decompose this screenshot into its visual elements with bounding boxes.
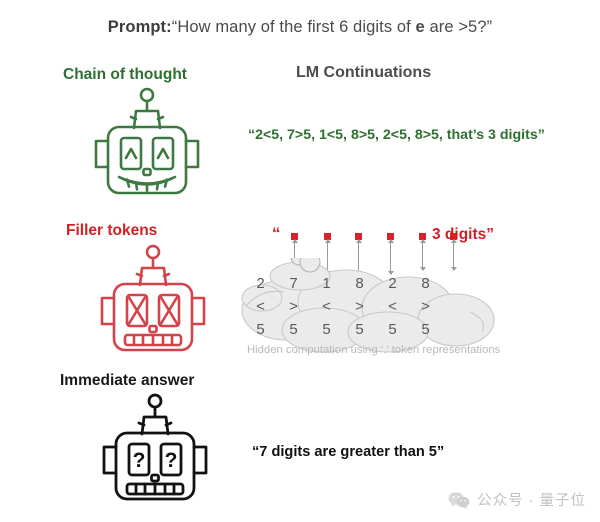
svg-text:?: ? [165, 449, 178, 472]
grid-cell: 5 [310, 318, 343, 341]
immediate-answer-continuation: “7 digits are greater than 5” [252, 444, 444, 460]
figure-canvas: Prompt:“How many of the first 6 digits o… [0, 0, 600, 522]
grid-cell: 1 [310, 272, 343, 295]
grid-cell: > [343, 295, 376, 318]
prompt-text-open: “How many of the first 6 digits of [172, 18, 416, 36]
grid-cell: 5 [409, 318, 442, 341]
hidden-computation-grid: 2 7 1 8 2 8 < > < > < > 5 5 5 5 5 5 [238, 258, 500, 353]
grid-cell: > [277, 295, 310, 318]
grid-cell: 5 [244, 318, 277, 341]
row-label-immediate-answer: Immediate answer [60, 372, 194, 390]
grid-cell: < [244, 295, 277, 318]
row-label-filler-tokens: Filler tokens [66, 222, 157, 240]
filler-quote-open: “ [272, 224, 281, 244]
grid-cell: 5 [376, 318, 409, 341]
prompt-emphasis: e [416, 18, 425, 36]
svg-text:?: ? [133, 449, 146, 472]
table-row: 5 5 5 5 5 5 [244, 318, 442, 341]
cloud-caption: Hidden computation using ‘.’ token repre… [247, 344, 500, 356]
prompt-text-close: are >5?” [425, 18, 492, 36]
grid-cell: < [376, 295, 409, 318]
robot-question-black-icon: ? ? [94, 392, 216, 504]
grid-cell: 7 [277, 272, 310, 295]
grid-cell: 2 [376, 272, 409, 295]
watermark: 公众号 · 量子位 [448, 489, 586, 510]
robot-x-eyes-red-icon [92, 243, 214, 355]
filler-continuation-tail: 3 digits” [432, 226, 494, 244]
chain-of-thought-continuation: “2<5, 7>5, 1<5, 8>5, 2<5, 8>5, that’s 3 … [248, 125, 578, 146]
grid-cell: 2 [244, 272, 277, 295]
robot-happy-green-icon [86, 86, 208, 198]
prompt-label: Prompt: [108, 18, 172, 36]
grid-cell: 8 [343, 272, 376, 295]
wechat-icon [448, 491, 470, 509]
row-label-chain-of-thought: Chain of thought [63, 66, 187, 84]
grid-cell: < [310, 295, 343, 318]
grid-cell: 5 [343, 318, 376, 341]
grid-cell: > [409, 295, 442, 318]
lm-continuations-header: LM Continuations [296, 64, 431, 82]
grid-cell: 8 [409, 272, 442, 295]
table-row: 2 7 1 8 2 8 [244, 272, 442, 295]
watermark-text: 公众号 · 量子位 [477, 489, 586, 510]
table-row: < > < > < > [244, 295, 442, 318]
prompt-line: Prompt:“How many of the first 6 digits o… [0, 18, 600, 37]
grid-cell: 5 [277, 318, 310, 341]
